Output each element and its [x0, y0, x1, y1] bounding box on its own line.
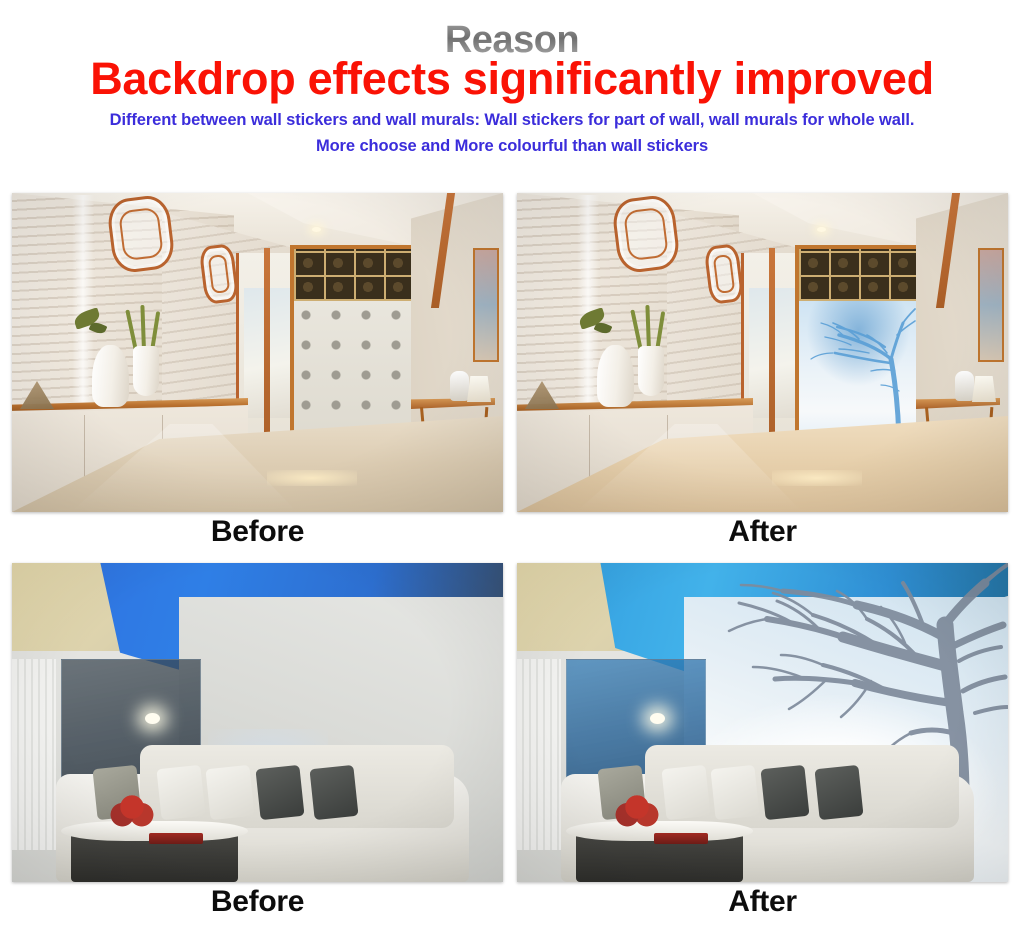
sofa-cushion-dark	[814, 765, 863, 820]
eyebrow-reason: Reason	[445, 22, 579, 58]
page-title: Backdrop effects significantly improved	[0, 56, 1024, 102]
table-lamp-shade	[972, 376, 996, 402]
hallway-after-photo	[517, 193, 1008, 512]
feature-wall-lattice-transom	[294, 249, 413, 301]
sofa-cushion	[662, 765, 711, 820]
table-lamp-shade	[467, 376, 491, 402]
hallway-before-cell: Before	[12, 193, 503, 512]
wall-light-column	[72, 195, 94, 405]
book-stack	[654, 833, 708, 844]
sofa-cushion	[206, 765, 255, 820]
caption-before: Before	[12, 515, 503, 549]
decor-figurine	[955, 371, 974, 401]
radiator	[517, 659, 561, 850]
wall-light-column	[577, 195, 599, 405]
potted-plant	[128, 305, 164, 351]
subtitle-line-2: More choose and More colourful than wall…	[0, 134, 1024, 159]
sofa-cushion-dark	[760, 765, 809, 820]
right-wall-artwork	[473, 248, 499, 362]
flower-vase	[110, 793, 154, 828]
caption-after: After	[517, 885, 1008, 919]
floor-light-pool	[772, 470, 862, 486]
caption-before: Before	[12, 885, 503, 919]
radiator	[12, 659, 56, 850]
downlight-icon	[817, 227, 826, 232]
hallway-before-photo	[12, 193, 503, 512]
living-before-photo	[12, 563, 503, 882]
subtitle-line-1: Different between wall stickers and wall…	[0, 108, 1024, 133]
lattice-wall-art-large	[106, 193, 177, 274]
potted-plant	[633, 305, 669, 351]
comparison-grid: Before	[0, 193, 1024, 885]
living-after-photo	[517, 563, 1008, 882]
header: Reason Backdrop effects significantly im…	[0, 0, 1024, 158]
small-white-pot	[133, 346, 159, 396]
large-white-vase	[92, 345, 129, 407]
floor-light-pool	[267, 470, 357, 486]
living-before-cell: Before	[12, 563, 503, 882]
comparison-row-living-room: Before	[0, 563, 1024, 885]
ceiling-spotlight-icon	[145, 713, 160, 724]
living-after-cell: After	[517, 563, 1008, 882]
sofa-cushion	[711, 765, 760, 820]
book-stack	[149, 833, 203, 844]
hallway-after-cell: After	[517, 193, 1008, 512]
large-white-vase	[597, 345, 634, 407]
caption-after: After	[517, 515, 1008, 549]
promo-page: Reason Backdrop effects significantly im…	[0, 0, 1024, 944]
comparison-row-hallway: Before	[0, 193, 1024, 517]
lattice-wall-art-large	[611, 193, 682, 274]
right-wall-artwork	[978, 248, 1004, 362]
sofa-cushion	[157, 765, 206, 820]
sofa-cushion-dark	[255, 765, 304, 820]
small-white-pot	[638, 346, 664, 396]
ceiling-spotlight-icon	[650, 713, 665, 724]
downlight-icon	[312, 227, 321, 232]
feature-wall-lattice-transom	[799, 249, 918, 301]
sofa-cushion-dark	[309, 765, 358, 820]
decor-figurine	[450, 371, 469, 401]
flower-vase	[615, 793, 659, 828]
